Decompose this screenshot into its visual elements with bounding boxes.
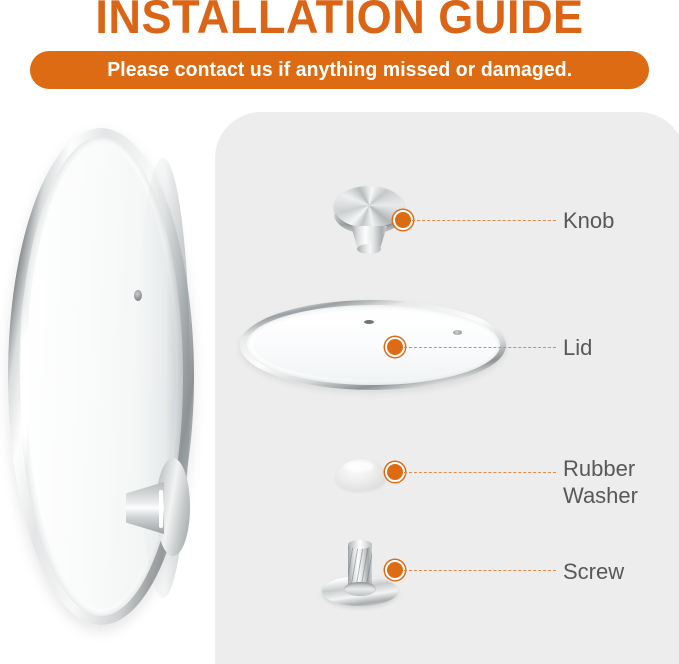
notice-banner-text: Please contact us if anything missed or …	[107, 59, 572, 82]
callout-dot-icon-screw[interactable]	[385, 560, 405, 580]
lid-vent-icon	[453, 330, 462, 335]
callout-dot-icon-lid[interactable]	[385, 337, 405, 357]
leader-line-washer	[404, 472, 556, 473]
rubber-washer-icon	[336, 455, 390, 495]
assembled-knob-highlight	[159, 490, 163, 528]
screw-base-ring	[344, 582, 376, 596]
callout-label-lid: Lid	[563, 334, 592, 361]
assembled-lid-illustration	[8, 128, 208, 628]
leader-line-knob	[412, 220, 556, 221]
page-title: INSTALLATION GUIDE	[14, 0, 666, 43]
leader-line-screw	[404, 570, 556, 571]
lid-center-hole-icon	[364, 320, 374, 324]
lid-highlight	[20, 298, 28, 478]
rubber-washer-highlight	[344, 461, 374, 472]
callout-dot-icon-knob[interactable]	[393, 210, 413, 230]
notice-banner: Please contact us if anything missed or …	[30, 51, 649, 89]
lid-steam-vent-icon	[134, 290, 142, 301]
leader-line-lid	[404, 347, 556, 348]
header: INSTALLATION GUIDE Please contact us if …	[0, 0, 679, 108]
assembled-knob-icon	[126, 458, 190, 556]
knob-foot	[357, 244, 381, 254]
callout-label-knob: Knob	[563, 207, 614, 234]
screw-shaft-tip	[348, 540, 372, 549]
callout-label-screw: Screw	[563, 558, 624, 585]
callout-label-rubber-washer: Rubber Washer	[563, 455, 638, 509]
callout-dot-icon-washer[interactable]	[385, 462, 405, 482]
